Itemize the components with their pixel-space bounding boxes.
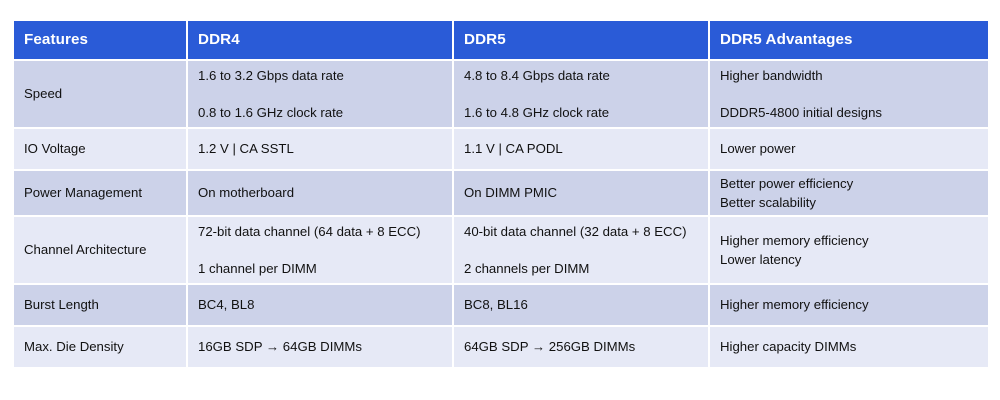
cell-line: 2 channels per DIMM (464, 260, 698, 277)
cell-ddr5: On DIMM PMIC (454, 171, 708, 215)
cell-line: Better power efficiency (720, 175, 978, 192)
column-header-ddr4: DDR4 (188, 21, 452, 59)
cell-ddr4: 16GB SDP → 64GB DIMMs (188, 327, 452, 367)
cell-feature: Max. Die Density (14, 327, 186, 367)
cell-ddr5: 64GB SDP → 256GB DIMMs (454, 327, 708, 367)
column-header-ddr5: DDR5 (454, 21, 708, 59)
cell-ddr4: 72-bit data channel (64 data + 8 ECC) 1 … (188, 217, 452, 283)
table-row: Power Management On motherboard On DIMM … (14, 171, 988, 215)
cell-advantages: Higher capacity DIMMs (710, 327, 988, 367)
cell-feature: Power Management (14, 171, 186, 215)
cell-line: 72-bit data channel (64 data + 8 ECC) (198, 223, 442, 240)
table-row: Speed 1.6 to 3.2 Gbps data rate 0.8 to 1… (14, 61, 988, 127)
cell-line: 4.8 to 8.4 Gbps data rate (464, 67, 698, 84)
cell-advantages: Higher memory efficiency Lower latency (710, 217, 988, 283)
cell-ddr4: 1.2 V | CA SSTL (188, 129, 452, 169)
cell-line: Lower latency (720, 251, 978, 268)
cell-line: Better scalability (720, 194, 978, 211)
cell-feature: Speed (14, 61, 186, 127)
cell-ddr5: 1.1 V | CA PODL (454, 129, 708, 169)
column-header-advantages: DDR5 Advantages (710, 21, 988, 59)
cell-advantages: Lower power (710, 129, 988, 169)
cell-ddr5: BC8, BL16 (454, 285, 708, 325)
cell-feature: IO Voltage (14, 129, 186, 169)
cell-line: 1.6 to 4.8 GHz clock rate (464, 104, 698, 121)
column-header-features: Features (14, 21, 186, 59)
table-row: Max. Die Density 16GB SDP → 64GB DIMMs 6… (14, 327, 988, 367)
cell-line: 1 channel per DIMM (198, 260, 442, 277)
cell-line: Higher bandwidth (720, 67, 978, 84)
table-row: Channel Architecture 72-bit data channel… (14, 217, 988, 283)
table-row: Burst Length BC4, BL8 BC8, BL16 Higher m… (14, 285, 988, 325)
cell-ddr5: 40-bit data channel (32 data + 8 ECC) 2 … (454, 217, 708, 283)
cell-feature: Burst Length (14, 285, 186, 325)
cell-advantages: Higher memory efficiency (710, 285, 988, 325)
cell-ddr4: 1.6 to 3.2 Gbps data rate 0.8 to 1.6 GHz… (188, 61, 452, 127)
table-row: IO Voltage 1.2 V | CA SSTL 1.1 V | CA PO… (14, 129, 988, 169)
cell-line: DDDR5-4800 initial designs (720, 104, 978, 121)
cell-line: 40-bit data channel (32 data + 8 ECC) (464, 223, 698, 240)
cell-line: 1.6 to 3.2 Gbps data rate (198, 67, 442, 84)
cell-line: Higher memory efficiency (720, 232, 978, 249)
ddr4-ddr5-comparison-table: Features DDR4 DDR5 DDR5 Advantages Speed… (12, 19, 990, 369)
cell-ddr4: On motherboard (188, 171, 452, 215)
cell-feature: Channel Architecture (14, 217, 186, 283)
table-header-row: Features DDR4 DDR5 DDR5 Advantages (14, 21, 988, 59)
cell-advantages: Better power efficiency Better scalabili… (710, 171, 988, 215)
cell-ddr5: 4.8 to 8.4 Gbps data rate 1.6 to 4.8 GHz… (454, 61, 708, 127)
cell-ddr4: BC4, BL8 (188, 285, 452, 325)
cell-advantages: Higher bandwidth DDDR5-4800 initial desi… (710, 61, 988, 127)
table-header: Features DDR4 DDR5 DDR5 Advantages (14, 21, 988, 59)
cell-line: 0.8 to 1.6 GHz clock rate (198, 104, 442, 121)
table-body: Speed 1.6 to 3.2 Gbps data rate 0.8 to 1… (14, 61, 988, 367)
